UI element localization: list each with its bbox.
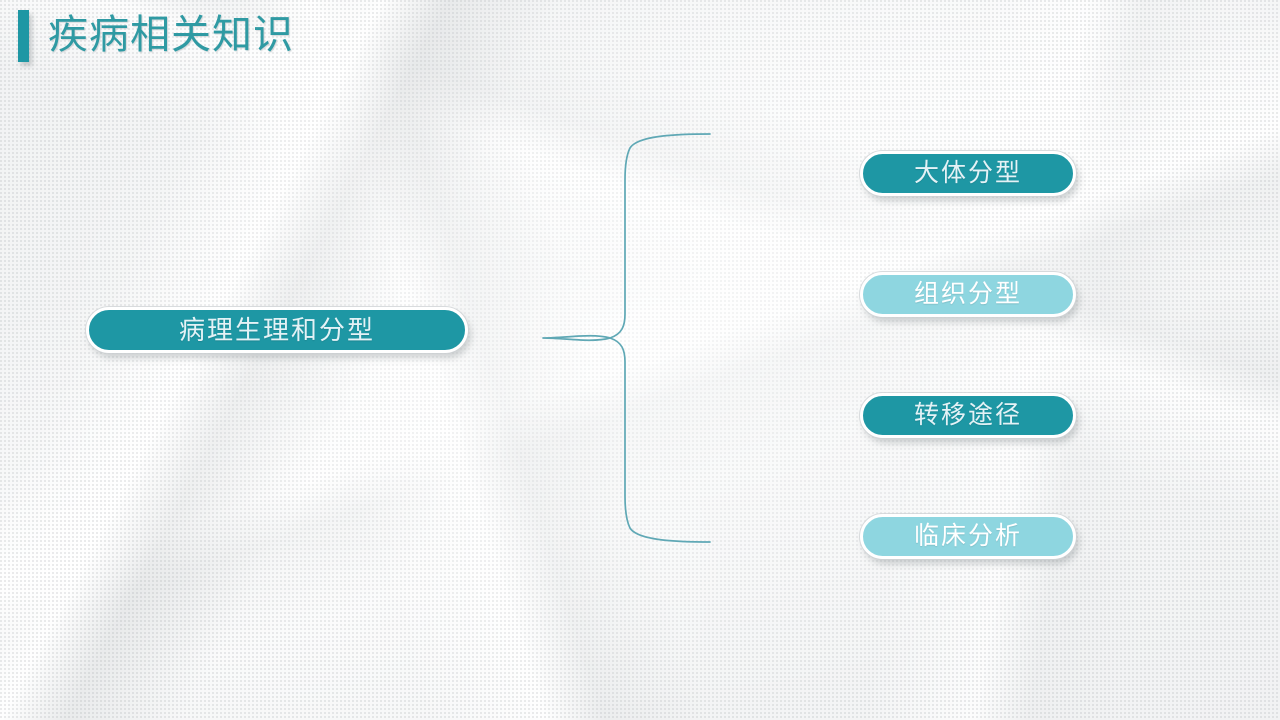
title-accent-bar: [18, 10, 29, 62]
curly-brace-icon: [530, 118, 730, 558]
diagram-root-node[interactable]: 病理生理和分型: [86, 307, 468, 353]
diagram-branch-label: 大体分型: [914, 161, 1022, 186]
diagram-branch-node[interactable]: 组织分型: [860, 272, 1076, 317]
diagram-branch-label: 转移途径: [914, 403, 1022, 428]
page-title: 疾病相关知识: [48, 6, 294, 64]
diagram-root-label: 病理生理和分型: [179, 317, 375, 343]
diagram-branch-node[interactable]: 转移途径: [860, 393, 1076, 438]
diagram-branch-node[interactable]: 临床分析: [860, 514, 1076, 559]
diagram-branch-node[interactable]: 大体分型: [860, 151, 1076, 196]
diagram-branch-label: 临床分析: [914, 524, 1022, 549]
diagram-branch-label: 组织分型: [914, 282, 1022, 307]
slide-title-row: 疾病相关知识: [0, 0, 640, 74]
slide-root: 疾病相关知识 病理生理和分型 大体分型 组织分型 转移途径 临床分析: [0, 0, 1280, 720]
